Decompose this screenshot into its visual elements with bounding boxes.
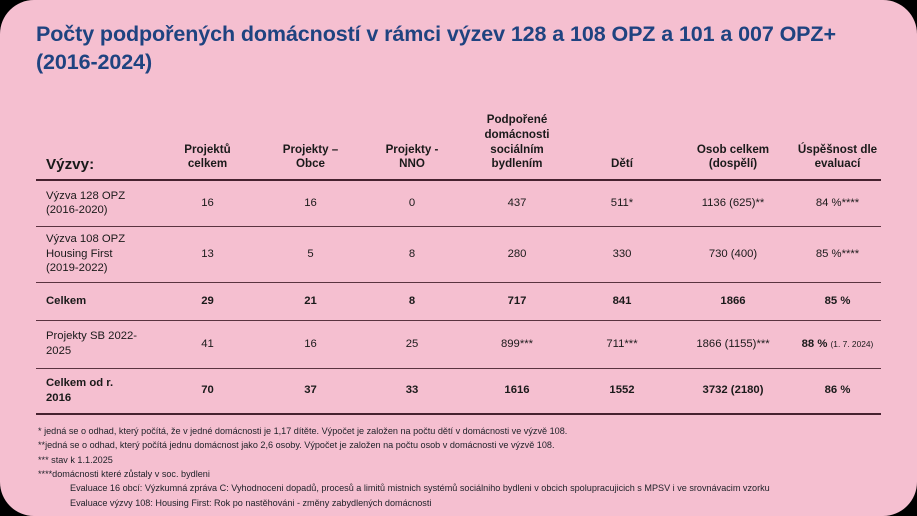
header-line-1: Projekty –	[283, 143, 338, 156]
row-label: Výzva 128 OPZ (2016-2020)	[36, 180, 156, 226]
cell-osob-celkem: 3732 (2180)	[672, 368, 794, 414]
table-header-row: Výzvy: Projektů celkem Projekty – Obce P…	[36, 96, 881, 180]
cell-domacnosti: 899***	[462, 320, 572, 368]
uspesnost-value: 85 %****	[816, 248, 859, 260]
cell-deti: 330	[572, 226, 672, 282]
slide-canvas: Počty podpořených domácností v rámci výz…	[0, 0, 917, 516]
header-line-2: evaluací	[815, 157, 861, 170]
row-label: Projekty SB 2022- 2025	[36, 320, 156, 368]
table-body: Výzva 128 OPZ (2016-2020) 16 16 0 437 51…	[36, 180, 881, 414]
cell-deti: 841	[572, 282, 672, 320]
column-header-projekty-nno: Projekty - NNO	[362, 96, 462, 180]
column-header-projekty-obce: Projekty – Obce	[259, 96, 362, 180]
row-label: Celkem od r. 2016	[36, 368, 156, 414]
cell-projekty-celkem: 29	[156, 282, 259, 320]
cell-deti: 1552	[572, 368, 672, 414]
footnote-item: Evaluace 16 obcí: Výzkumná zpráva C: Vyh…	[38, 481, 898, 495]
column-header-projekty-celkem: Projektů celkem	[156, 96, 259, 180]
cell-projekty-celkem: 16	[156, 180, 259, 226]
uspesnost-date-note: (1. 7. 2024)	[831, 339, 874, 349]
cell-projekty-obce: 16	[259, 320, 362, 368]
cell-domacnosti: 717	[462, 282, 572, 320]
column-header-uspesnost: Úspěšnost dle evaluací	[794, 96, 881, 180]
row-label-line-2: 2016	[46, 392, 71, 404]
table-row: Celkem 29 21 8 717 841 1866 85 %	[36, 282, 881, 320]
header-line-1: Projekty -	[386, 143, 439, 156]
cell-projekty-obce: 21	[259, 282, 362, 320]
footnote-item: * jedná se o odhad, který počítá, že v j…	[38, 424, 898, 438]
header-line-4: bydlením	[492, 157, 543, 170]
cell-projekty-celkem: 13	[156, 226, 259, 282]
table-row: Celkem od r. 2016 70 37 33 1616 1552 373…	[36, 368, 881, 414]
row-label-line-1: Výzva 128 OPZ	[46, 190, 125, 202]
cell-projekty-nno: 0	[362, 180, 462, 226]
footnote-item: **jedná se o odhad, který počítá jednu d…	[38, 438, 898, 452]
footnote-item: *** stav k 1.1.2025	[38, 453, 898, 467]
cell-domacnosti: 437	[462, 180, 572, 226]
cell-osob-celkem: 1866 (1155)***	[672, 320, 794, 368]
cell-osob-celkem: 1866	[672, 282, 794, 320]
column-header-osob-celkem: Osob celkem (dospělí)	[672, 96, 794, 180]
column-header-vyzvy: Výzvy:	[36, 96, 156, 180]
cell-projekty-nno: 25	[362, 320, 462, 368]
footnote-item: Evaluace výzvy 108: Housing First: Rok p…	[38, 496, 898, 510]
cell-uspesnost: 85 %	[794, 282, 881, 320]
header-line-3: sociálním	[490, 143, 543, 156]
header-line-1: Podpořené	[487, 113, 548, 126]
header-line-2: domácnosti	[484, 128, 549, 141]
cell-domacnosti: 280	[462, 226, 572, 282]
header-line-2: NNO	[399, 157, 425, 170]
table-row: Projekty SB 2022- 2025 41 16 25 899*** 7…	[36, 320, 881, 368]
cell-projekty-obce: 5	[259, 226, 362, 282]
row-label: Celkem	[36, 282, 156, 320]
header-line-2: Obce	[296, 157, 325, 170]
cell-uspesnost: 85 %****	[794, 226, 881, 282]
header-line-1: Úspěšnost dle	[798, 143, 877, 156]
table-row: Výzva 128 OPZ (2016-2020) 16 16 0 437 51…	[36, 180, 881, 226]
uspesnost-value: 88 %	[802, 338, 828, 350]
cell-deti: 511*	[572, 180, 672, 226]
header-line-2: (dospělí)	[709, 157, 757, 170]
cell-osob-celkem: 730 (400)	[672, 226, 794, 282]
cell-projekty-nno: 8	[362, 282, 462, 320]
cell-domacnosti: 1616	[462, 368, 572, 414]
uspesnost-value: 86 %	[825, 384, 851, 396]
table-header: Výzvy: Projektů celkem Projekty – Obce P…	[36, 96, 881, 180]
row-label-line-1: Výzva 108 OPZ	[46, 233, 125, 245]
footnote-item: ****domácnosti které zůstaly v soc. bydl…	[38, 467, 898, 481]
uspesnost-value: 85 %	[825, 295, 851, 307]
cell-projekty-celkem: 70	[156, 368, 259, 414]
row-label-line-2: (2016-2020)	[46, 204, 108, 216]
cell-uspesnost: 86 %	[794, 368, 881, 414]
header-line-1: Dětí	[611, 157, 633, 170]
table-row: Výzva 108 OPZ Housing First (2019-2022) …	[36, 226, 881, 282]
column-header-podporene-domacnosti: Podpořené domácnosti sociálním bydlením	[462, 96, 572, 180]
footnotes-block: * jedná se o odhad, který počítá, že v j…	[38, 424, 898, 510]
statistics-table: Výzvy: Projektů celkem Projekty – Obce P…	[36, 96, 881, 415]
cell-uspesnost: 88 % (1. 7. 2024)	[794, 320, 881, 368]
cell-projekty-nno: 33	[362, 368, 462, 414]
row-label-line-2: 2025	[46, 345, 71, 357]
header-line-1: Osob celkem	[697, 143, 769, 156]
row-label-line-3: (2019-2022)	[46, 262, 108, 274]
cell-projekty-celkem: 41	[156, 320, 259, 368]
header-line-1: Projektů	[184, 143, 230, 156]
row-label-line-1: Celkem	[46, 295, 86, 307]
header-line-2: celkem	[188, 157, 227, 170]
column-header-deti: Dětí	[572, 96, 672, 180]
row-label-line-1: Celkem od r.	[46, 377, 113, 389]
cell-projekty-obce: 16	[259, 180, 362, 226]
row-label-line-2: Housing First	[46, 248, 113, 260]
cell-projekty-obce: 37	[259, 368, 362, 414]
row-label-line-1: Projekty SB 2022-	[46, 330, 137, 342]
uspesnost-value: 84 %****	[816, 197, 859, 209]
cell-osob-celkem: 1136 (625)**	[672, 180, 794, 226]
page-title: Počty podpořených domácností v rámci výz…	[36, 20, 856, 77]
row-label: Výzva 108 OPZ Housing First (2019-2022)	[36, 226, 156, 282]
cell-projekty-nno: 8	[362, 226, 462, 282]
cell-deti: 711***	[572, 320, 672, 368]
statistics-table-container: Výzvy: Projektů celkem Projekty – Obce P…	[36, 96, 881, 415]
cell-uspesnost: 84 %****	[794, 180, 881, 226]
